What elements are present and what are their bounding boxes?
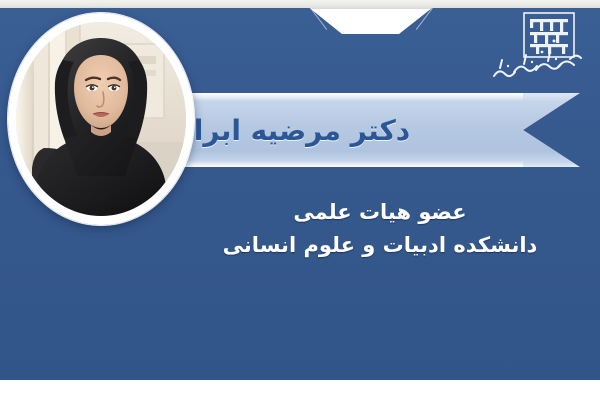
faculty-role: عضو هیات علمی bbox=[180, 196, 580, 229]
faculty-profile-card: دکتر مرضیه ابراهیمی bbox=[0, 0, 600, 400]
faculty-role-block: عضو هیات علمی دانشکده ادبیات و علوم انسا… bbox=[180, 196, 580, 261]
faculty-department: دانشکده ادبیات و علوم انسانی bbox=[180, 229, 580, 262]
portrait bbox=[8, 13, 194, 225]
shahid-beheshti-university-logo-icon bbox=[488, 10, 588, 88]
portrait-photo bbox=[16, 22, 186, 216]
top-edge-strip bbox=[0, 0, 600, 9]
